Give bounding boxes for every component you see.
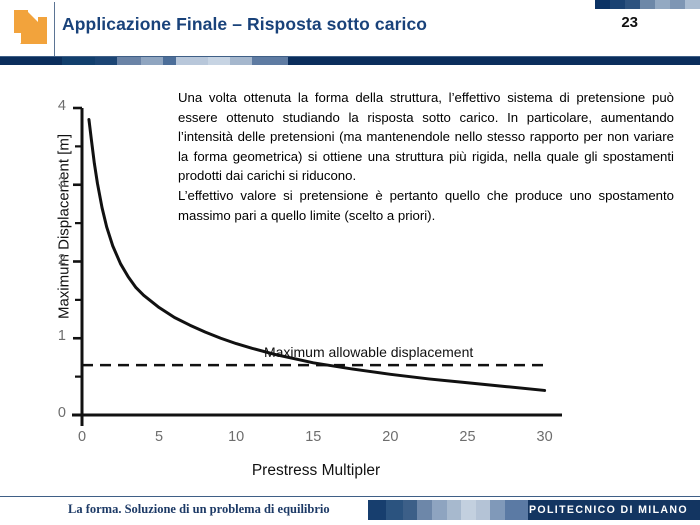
corner-square-1 [610,0,625,9]
corner-square-2 [625,0,640,9]
header-band-square-10 [288,57,700,65]
header-band-square-3 [117,57,141,65]
chart-x-tick-label: 0 [67,429,97,445]
footer-band-square-8 [490,500,505,520]
page-title: Applicazione Finale – Risposta sotto car… [62,14,427,35]
footer-band-square-7 [476,500,490,520]
slide-header: Applicazione Finale – Risposta sotto car… [0,0,700,62]
chart-threshold-annotation: Maximum allowable displacement [264,344,473,360]
footer-band-square-2 [403,500,417,520]
chart-y-tick-label: 0 [44,405,66,421]
displacement-chart: Maximum Displacement [m] Prestress Multi… [26,90,586,490]
footer-band-square-4 [432,500,447,520]
chart-axes [72,108,562,426]
chart-y-tick-label: 2 [44,252,66,268]
header-band-square-4 [141,57,163,65]
header-band-square-2 [95,57,117,65]
footer-band-square-1 [386,500,403,520]
chart-x-axis-label: Prestress Multipler [86,462,546,480]
header-band-square-1 [62,57,95,65]
corner-square-4 [655,0,670,9]
corner-square-6 [685,0,700,9]
down-right-arrow-icon [12,8,50,48]
header-band-square-9 [252,57,288,65]
chart-y-tick-label: 1 [44,328,66,344]
footer-band-square-6 [461,500,476,520]
header-corner-decoration [595,0,700,9]
chart-y-axis-label: Maximum Displacement [m] [56,127,73,327]
corner-square-0 [595,0,610,9]
chart-y-tick-label: 4 [44,98,66,114]
footer-band-square-0 [368,500,386,520]
footer-color-band [368,500,528,520]
chart-x-tick-label: 30 [530,429,560,445]
header-color-band [0,57,700,65]
chart-x-tick-label: 10 [221,429,251,445]
header-band-square-8 [230,57,252,65]
slide-page-number: 23 [621,14,638,31]
chart-x-tick-label: 15 [298,429,328,445]
footer-band-square-5 [447,500,461,520]
corner-square-5 [670,0,685,9]
corner-square-3 [640,0,655,9]
footer-band-square-3 [417,500,432,520]
footer-caption: La forma. Soluzione di un problema di eq… [68,502,330,517]
header-band-square-5 [163,57,176,65]
header-band-square-7 [208,57,230,65]
header-band-square-6 [176,57,208,65]
slide: Applicazione Finale – Risposta sotto car… [0,0,700,525]
header-band-square-0 [0,57,62,65]
footer-brand-label: POLITECNICO DI MILANO [529,504,688,516]
slide-footer: La forma. Soluzione di un problema di eq… [0,496,700,525]
chart-x-tick-label: 5 [144,429,174,445]
footer-band-square-9 [505,500,528,520]
chart-x-tick-label: 20 [375,429,405,445]
footer-rule [0,496,700,497]
chart-y-tick-label: 3 [44,175,66,191]
chart-x-tick-label: 25 [452,429,482,445]
header-divider [54,2,55,56]
